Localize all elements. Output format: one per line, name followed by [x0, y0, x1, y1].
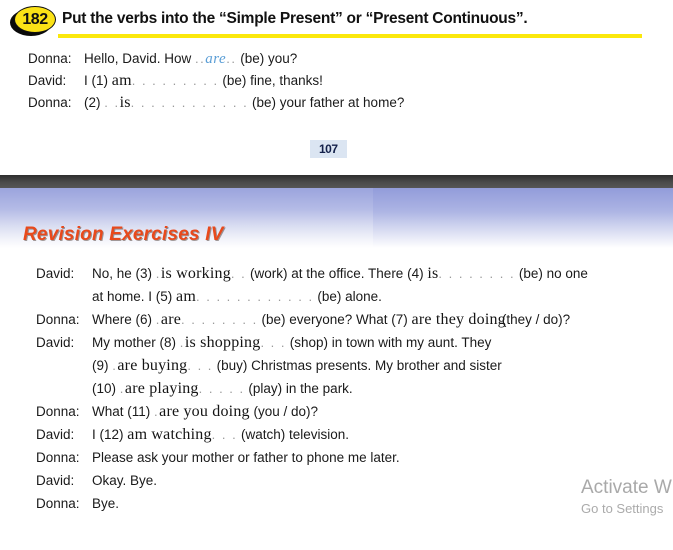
speaker-label: David:: [36, 423, 92, 446]
dialogue-line: at home. I (5) am. . . . . . . . . . . .…: [36, 285, 673, 308]
filled-answer[interactable]: are buying: [117, 357, 187, 374]
speaker-label: Donna:: [36, 400, 92, 423]
static-text: (be) your father at home?: [248, 95, 404, 110]
instruction-underline: [58, 34, 642, 38]
dialogue-line: (10) .are playing. . . . . (play) in the…: [36, 377, 673, 400]
dialogue-text: My mother (8) .is shopping. . . (shop) i…: [92, 331, 491, 354]
static-text: Bye.: [92, 496, 119, 511]
static-text: (be) no one: [515, 266, 588, 281]
static-text: at home. I (5): [92, 289, 176, 304]
filled-answer[interactable]: is shopping: [185, 334, 261, 351]
page-separator-band: [0, 175, 673, 188]
filled-answer[interactable]: am: [176, 288, 196, 305]
exercise-instruction: Put the verbs into the “Simple Present” …: [62, 10, 527, 28]
static-text: (2): [84, 95, 104, 110]
filled-answer[interactable]: are: [161, 311, 181, 328]
static-text: What (11): [92, 404, 154, 419]
dialogue-text: Hello, David. How ..are.. (be) you?: [84, 48, 297, 70]
answer-blank-dots[interactable]: . . .: [187, 358, 213, 373]
dialogue-text: No, he (3) .is working. . (work) at the …: [92, 262, 588, 285]
dialogue-text: at home. I (5) am. . . . . . . . . . . .…: [92, 285, 382, 308]
answer-blank-dots[interactable]: ..: [226, 51, 236, 66]
dialogue-line: Donna:What (11) .are you doing (you / do…: [36, 400, 673, 423]
dialogue-text: Please ask your mother or father to phon…: [92, 446, 400, 469]
static-text: (be) fine, thanks!: [219, 73, 323, 88]
dialogue-text: I (1) am. . . . . . . . . (be) fine, tha…: [84, 70, 323, 92]
speaker-label: David:: [36, 331, 92, 354]
dialogue-text: Where (6) .are. . . . . . . . (be) every…: [92, 308, 570, 331]
dialogue-line: David:I (12) am watching. . . (watch) te…: [36, 423, 673, 446]
dialogue-text: (2) . .is. . . . . . . . . . . . (be) yo…: [84, 92, 404, 114]
dialogue-text: What (11) .are you doing (you / do)?: [92, 400, 318, 423]
top-dialogue: Donna:Hello, David. How ..are.. (be) you…: [28, 48, 658, 114]
exercise-number: 182: [22, 12, 47, 28]
dialogue-text: Okay. Bye.: [92, 469, 157, 492]
filled-answer[interactable]: are they doing: [412, 311, 506, 328]
badge-disc: 182: [14, 6, 56, 33]
static-text: (10): [92, 381, 120, 396]
static-text: (be) everyone? What (7): [258, 312, 412, 327]
exercise-header: 182 Put the verbs into the “Simple Prese…: [10, 4, 665, 38]
bottom-dialogue: David:No, he (3) .is working. . (work) a…: [36, 262, 673, 515]
answer-blank-dots[interactable]: . . .: [260, 335, 286, 350]
static-text: (play) in the park.: [245, 381, 353, 396]
speaker-label: Donna:: [28, 92, 84, 114]
speaker-label: Donna:: [36, 446, 92, 469]
static-text: (buy) Christmas presents. My brother and…: [213, 358, 502, 373]
static-text: I (12): [92, 427, 127, 442]
static-text: (you / do)?: [250, 404, 318, 419]
static-text: My mother (8): [92, 335, 180, 350]
answer-blank-dots[interactable]: ..: [195, 51, 205, 66]
top-page-fragment: 182 Put the verbs into the “Simple Prese…: [0, 0, 673, 175]
filled-answer[interactable]: is: [120, 94, 131, 111]
watermark-subtitle: Go to Settings: [581, 500, 673, 518]
answer-blank-dots[interactable]: . . . . .: [199, 381, 245, 396]
dialogue-text: Bye.: [92, 492, 119, 515]
bottom-page-fragment: Revision Exercises IV David:No, he (3) .…: [0, 188, 673, 550]
dialogue-line: David:Okay. Bye.: [36, 469, 673, 492]
static-text: Please ask your mother or father to phon…: [92, 450, 400, 465]
filled-answer[interactable]: am: [112, 72, 132, 89]
static-text: No, he (3): [92, 266, 156, 281]
answer-blank-dots[interactable]: . . . . . . . . .: [132, 73, 219, 88]
speaker-label: Donna:: [28, 48, 84, 70]
static-text: Okay. Bye.: [92, 473, 157, 488]
filled-answer[interactable]: is: [427, 265, 438, 282]
dialogue-text: (9) .are buying. . . (buy) Christmas pre…: [92, 354, 502, 377]
dialogue-line: Donna:Hello, David. How ..are.. (be) you…: [28, 48, 658, 70]
filled-answer[interactable]: am watching: [127, 426, 211, 443]
answer-blank-dots[interactable]: . .: [231, 266, 246, 281]
dialogue-line: (9) .are buying. . . (buy) Christmas pre…: [36, 354, 673, 377]
dialogue-line: Donna:Please ask your mother or father t…: [36, 446, 673, 469]
static-text: (work) at the office. There (4): [246, 266, 427, 281]
static-text: (they / do)?: [502, 312, 570, 327]
dialogue-line: David:I (1) am. . . . . . . . . (be) fin…: [28, 70, 658, 92]
answer-blank-dots[interactable]: . . . . . . . . . . . .: [196, 289, 314, 304]
static-text: (9): [92, 358, 112, 373]
dialogue-line: Donna:Bye.: [36, 492, 673, 515]
exercise-number-badge: 182: [10, 6, 56, 36]
filled-answer[interactable]: is working: [161, 265, 231, 282]
filled-answer[interactable]: are playing: [125, 380, 199, 397]
answer-blank-dots[interactable]: . . . . . . . . . . . .: [131, 95, 249, 110]
windows-activation-watermark: Activate W Go to Settings: [581, 476, 673, 518]
static-text: (shop) in town with my aunt. They: [286, 335, 491, 350]
static-text: (be) alone.: [314, 289, 382, 304]
answer-blank-dots[interactable]: . .: [104, 95, 119, 110]
filled-answer[interactable]: are you doing: [159, 403, 250, 420]
speaker-label: David:: [28, 70, 84, 92]
static-text: Hello, David. How: [84, 51, 195, 66]
speaker-label: Donna:: [36, 308, 92, 331]
dialogue-text: (10) .are playing. . . . . (play) in the…: [92, 377, 353, 400]
page-number: 107: [310, 140, 347, 158]
dialogue-line: David:No, he (3) .is working. . (work) a…: [36, 262, 673, 285]
speaker-label: Donna:: [36, 492, 92, 515]
static-text: Where (6): [92, 312, 156, 327]
watermark-title: Activate W: [581, 476, 673, 500]
dialogue-line: David:My mother (8) .is shopping. . . (s…: [36, 331, 673, 354]
static-text: (watch) television.: [237, 427, 349, 442]
dialogue-line: Donna:Where (6) .are. . . . . . . . (be)…: [36, 308, 673, 331]
answer-blank-dots[interactable]: . . . . . . . .: [438, 266, 515, 281]
static-text: (be) you?: [236, 51, 297, 66]
speaker-label: David:: [36, 469, 92, 492]
answer-blank-dots[interactable]: . . . . . . . .: [181, 312, 258, 327]
dialogue-line: Donna:(2) . .is. . . . . . . . . . . . (…: [28, 92, 658, 114]
static-text: I (1): [84, 73, 112, 88]
sample-answer: are: [205, 51, 226, 67]
speaker-label: David:: [36, 262, 92, 285]
answer-blank-dots[interactable]: . . .: [212, 427, 238, 442]
section-title: Revision Exercises IV: [23, 224, 224, 246]
dialogue-text: I (12) am watching. . . (watch) televisi…: [92, 423, 349, 446]
